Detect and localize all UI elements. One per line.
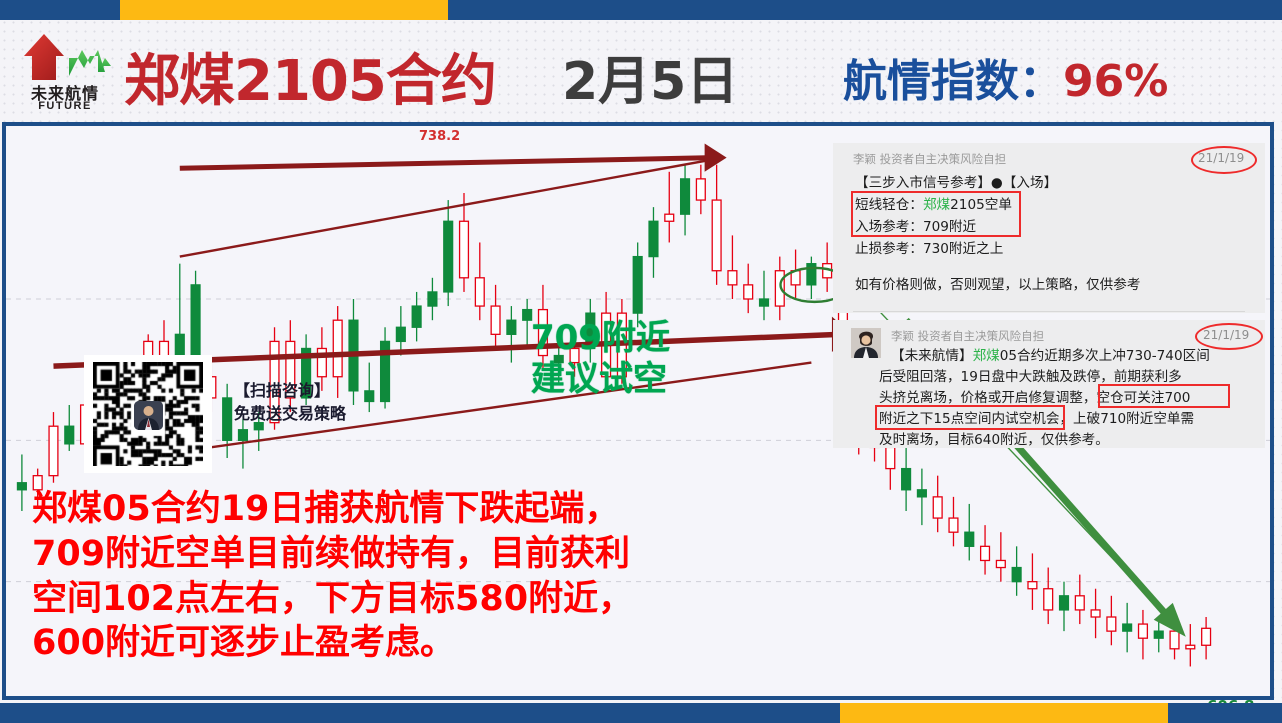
segment-blue-left bbox=[0, 703, 840, 723]
card1-date-circle-marker bbox=[1191, 146, 1257, 174]
report-date: 2月5日 bbox=[562, 56, 738, 108]
card2-avatar bbox=[851, 328, 881, 358]
card2-author: 李颖 投资者自主决策风险自担 bbox=[891, 328, 1044, 344]
candle bbox=[1012, 546, 1021, 595]
segment-yellow bbox=[840, 703, 1168, 723]
candle bbox=[902, 447, 911, 511]
segment-blue-right bbox=[448, 0, 1282, 20]
candle bbox=[1091, 589, 1100, 638]
sentiment-index: 航情指数：96% bbox=[843, 60, 1168, 104]
candle bbox=[633, 242, 642, 327]
card2-line-0-a: 【未来航情】 bbox=[891, 348, 973, 364]
brand-logo: 未来航情 FUTURE bbox=[12, 28, 118, 116]
segment-yellow bbox=[120, 0, 448, 20]
candle bbox=[665, 172, 674, 243]
candle bbox=[981, 525, 990, 574]
qr-promo-block[interactable]: 【扫描咨询】 免费送交易策略 bbox=[84, 355, 212, 473]
candle bbox=[696, 165, 705, 214]
candle bbox=[381, 327, 390, 408]
card2-line-4: 及时离场，目标640附近，仅供参考。 bbox=[879, 430, 1109, 451]
top-color-rail bbox=[0, 0, 1282, 20]
candle bbox=[791, 250, 800, 299]
candle bbox=[491, 285, 500, 349]
candle bbox=[933, 476, 942, 533]
candle bbox=[1044, 568, 1053, 625]
card2-line-0: 【未来航情】郑煤05合约近期多次上冲730-740区间 bbox=[891, 346, 1210, 367]
candle bbox=[744, 264, 753, 313]
candle bbox=[712, 165, 721, 285]
candle bbox=[823, 242, 832, 291]
card1-author: 李颖 投资者自主决策风险自担 bbox=[853, 151, 1006, 167]
candle bbox=[17, 454, 26, 511]
sentiment-index-value: 96% bbox=[1063, 56, 1168, 107]
page-title: 郑煤2105合约 bbox=[124, 54, 496, 110]
candle bbox=[1107, 596, 1116, 645]
candle bbox=[917, 469, 926, 526]
card2-highlight-box-a bbox=[1098, 384, 1230, 408]
candle bbox=[1028, 553, 1037, 610]
signal-card-entry: 李颖 投资者自主决策风险自担 21/1/19 【三步入市信号参考】●【入场】 郑… bbox=[833, 143, 1265, 313]
candle bbox=[949, 497, 958, 546]
candle bbox=[460, 193, 469, 292]
candle bbox=[1186, 624, 1195, 666]
entry-advice-note: 709附近 建议试空 bbox=[531, 318, 670, 401]
header-bar: 未来航情 FUTURE 郑煤2105合约 2月5日 航情指数：96% bbox=[0, 20, 1282, 120]
segment-blue-left bbox=[0, 0, 120, 20]
qr-card[interactable] bbox=[84, 355, 212, 473]
logo-english-name: FUTURE bbox=[12, 100, 118, 112]
candle bbox=[507, 306, 516, 363]
candle bbox=[649, 207, 658, 278]
candle bbox=[365, 363, 374, 412]
card2-highlight-box-b bbox=[875, 405, 1065, 430]
candle bbox=[681, 165, 690, 236]
candle bbox=[1139, 610, 1148, 659]
candle bbox=[807, 257, 816, 299]
candle bbox=[428, 278, 437, 320]
candle bbox=[1202, 617, 1211, 659]
candle bbox=[396, 306, 405, 355]
high-price-label: 738.2 bbox=[419, 129, 460, 144]
candle bbox=[65, 405, 74, 451]
sentiment-index-label: 航情指数： bbox=[843, 56, 1063, 107]
candle bbox=[444, 200, 453, 306]
card1-line-5: 如有价格则做，否则观望，以上策略，仅供参考 bbox=[855, 275, 1140, 296]
candle bbox=[775, 257, 784, 321]
candle bbox=[49, 412, 58, 483]
card2-line-0-symbol: 郑煤 bbox=[973, 348, 1000, 364]
bottom-color-rail bbox=[0, 703, 1282, 723]
candle bbox=[1060, 582, 1069, 631]
peak-arrow bbox=[180, 144, 727, 172]
card2-line-0-b: 05合约近期多次上冲730-740区间 bbox=[1000, 348, 1210, 364]
segment-blue-right bbox=[1168, 703, 1282, 723]
signal-card-analysis: 李颖 投资者自主决策风险自担 21/1/19 【未来航情】郑煤05合约近期多次上… bbox=[833, 320, 1265, 448]
candle bbox=[965, 504, 974, 561]
card1-divider bbox=[853, 311, 1245, 312]
card1-highlight-box bbox=[851, 191, 1021, 237]
candle bbox=[175, 264, 184, 370]
candle bbox=[728, 235, 737, 299]
candle bbox=[760, 271, 769, 320]
candle bbox=[223, 384, 232, 458]
candle bbox=[1123, 603, 1132, 652]
advisor-avatar bbox=[134, 401, 163, 430]
qr-caption: 【扫描咨询】 免费送交易策略 bbox=[234, 379, 346, 425]
candle bbox=[996, 532, 1005, 581]
logo-arrow-icon bbox=[12, 28, 118, 88]
card1-line-3: 止损参考：730附近之上 bbox=[855, 239, 1003, 260]
analysis-summary-text: 郑煤05合约19日捕获航情下跌起端， 709附近空单目前续做持有，目前获利 空间… bbox=[32, 487, 633, 666]
candle bbox=[475, 242, 484, 320]
